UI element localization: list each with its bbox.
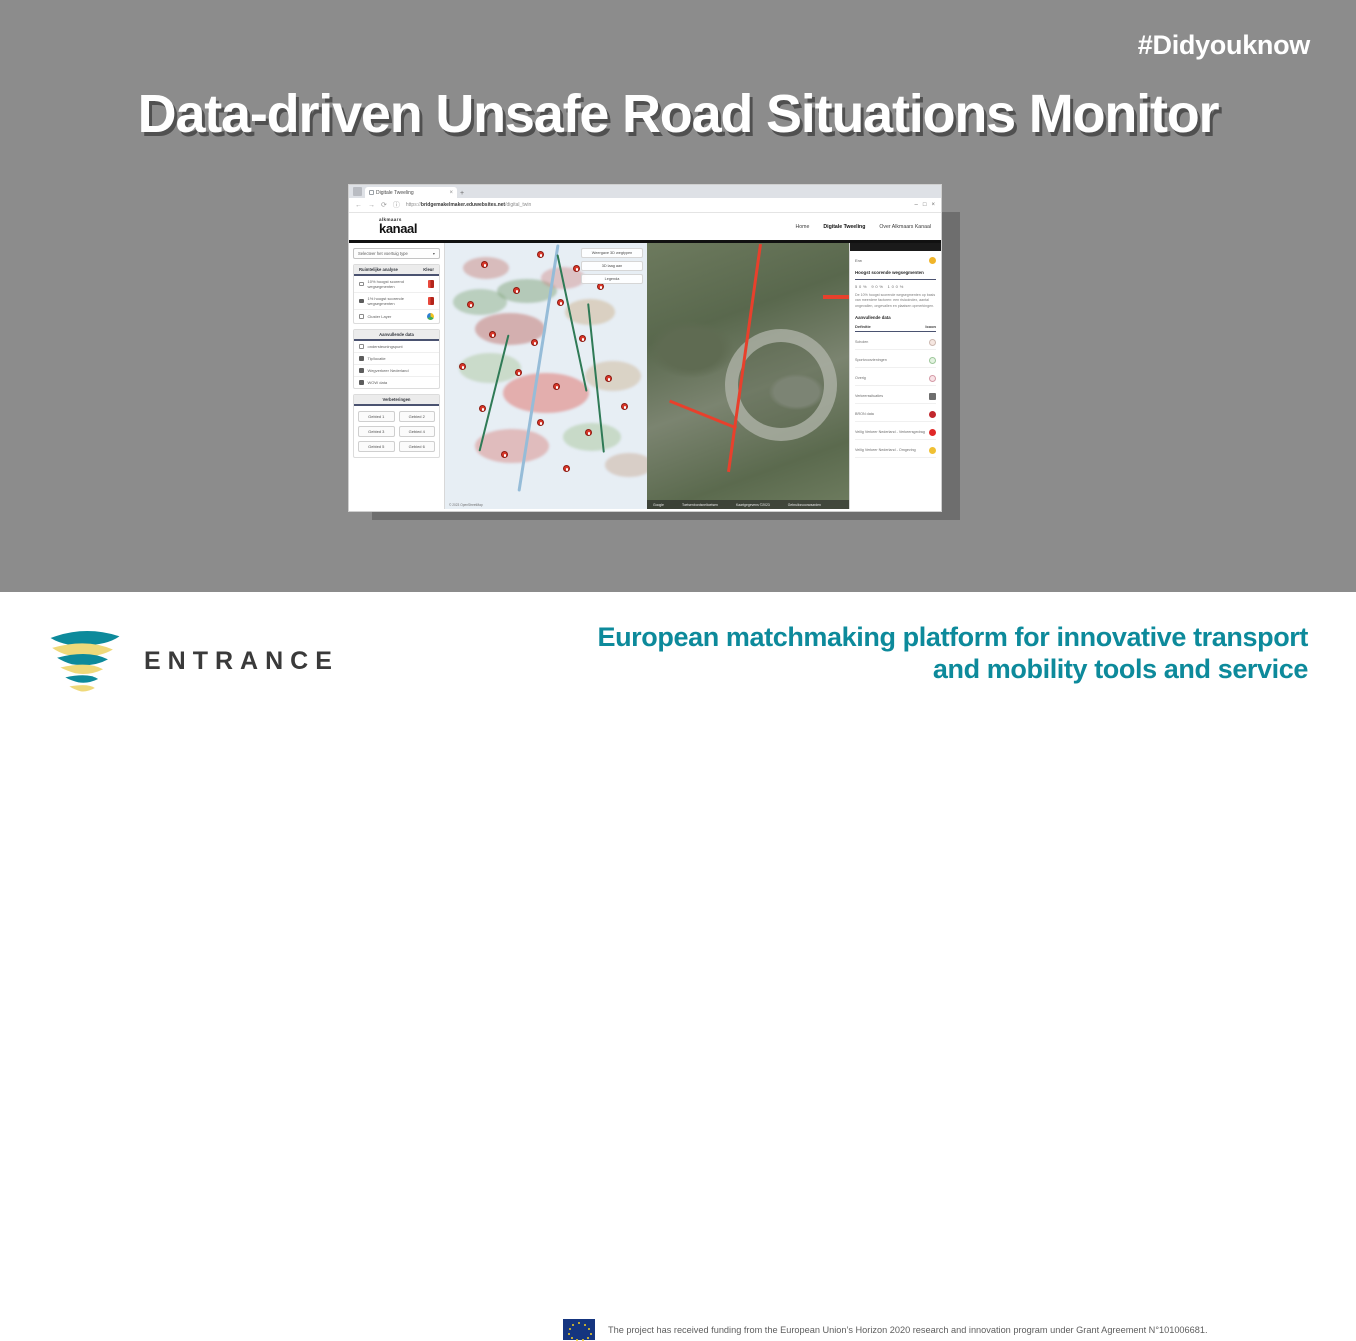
legend-row: Veilig Verkeer Nederland - Omgeving [855, 444, 936, 458]
extra-data-label: WOW data [368, 380, 435, 385]
legend-dot-icon [929, 429, 936, 436]
improvements-header: Verbeteringen [354, 395, 439, 406]
incident-marker[interactable] [585, 429, 592, 436]
eu-funding-row: The project has received funding from th… [562, 1318, 1208, 1341]
right-table-header: Definitie Icoon [855, 324, 936, 332]
hashtag-label: #Didyouknow [1138, 30, 1310, 61]
legend-top-row: Erw [855, 255, 936, 266]
reload-icon[interactable]: ⟳ [381, 201, 387, 209]
legend-row: Veilig Verkeer Nederland - Verkeersgedra… [855, 426, 936, 440]
extra-data-checkbox[interactable] [359, 380, 364, 385]
entrance-wordmark: ENTRANCE [144, 647, 339, 676]
vehicle-type-value: Selecteer het voertuig type [358, 251, 408, 256]
favicon-icon [369, 190, 374, 195]
extra-data-label: Aanvullende data [379, 332, 414, 337]
improvements-button-grid: Gebied 1 Gebied 2 Gebied 3 Gebied 4 Gebi… [354, 406, 439, 457]
window-controls: – □ × [915, 202, 935, 208]
entrance-spiral-icon [44, 620, 126, 702]
close-tab-icon[interactable]: × [449, 190, 453, 196]
google-attribution-bar: Google Toetsenbordsneltoetsen Kaartgegev… [647, 500, 849, 509]
layer-row[interactable]: 1% hoogst scorende wegsegmenten [354, 293, 439, 310]
legend-label: Veilig Verkeer Nederland - Omgeving [855, 448, 916, 453]
legend-label: Sportvoorzieningen [855, 358, 887, 363]
color-swatch [427, 313, 434, 320]
legend-row: Verkeerssituaties [855, 390, 936, 404]
incident-marker[interactable] [479, 405, 486, 412]
close-window-icon[interactable]: × [931, 202, 935, 208]
area-button-3[interactable]: Gebied 3 [358, 426, 395, 437]
window-menu-icon[interactable] [353, 187, 362, 196]
improvements-label: Verbeteringen [383, 397, 411, 402]
map-control-3d-road-types[interactable]: Weergave 3D wegtypen [581, 248, 643, 258]
extra-data-checkbox[interactable] [359, 368, 364, 373]
highway-overlay [823, 295, 849, 299]
area-button-6[interactable]: Gebied 6 [399, 441, 436, 452]
nav-item-over-alkmaars-kanaal[interactable]: Over Alkmaars Kanaal [879, 224, 931, 230]
area-button-2[interactable]: Gebied 2 [399, 411, 436, 422]
legend-label: Overig [855, 376, 866, 381]
legend-dot-icon [929, 257, 936, 264]
vector-map-pane[interactable]: Weergave 3D wegtypen 3D laag aan Legenda… [445, 243, 647, 509]
legend-square-icon [929, 393, 936, 400]
legend-dot-icon [929, 357, 936, 364]
extra-data-row[interactable]: WOW data [354, 377, 439, 388]
legend-row: Overig [855, 372, 936, 386]
layer-row[interactable]: 10% hoogst scorend wegsegmenten [354, 276, 439, 293]
legend-dot-icon [929, 447, 936, 454]
extra-data-row[interactable]: Wegverkeer Nederland [354, 365, 439, 377]
eu-flag-icon [562, 1318, 596, 1341]
legend-row: BRON data [855, 408, 936, 422]
incident-marker[interactable] [537, 419, 544, 426]
incident-marker[interactable] [553, 383, 560, 390]
embedded-screenshot: Digitale Tweeling × + ← → ⟳ ⓘ https://br… [348, 184, 942, 512]
legend-label: Veilig Verkeer Nederland - Verkeersgedra… [855, 430, 925, 435]
incident-marker[interactable] [605, 375, 612, 382]
improvements-card: Verbeteringen Gebied 1 Gebied 2 Gebied 3… [353, 394, 440, 458]
heat-blob [605, 453, 647, 477]
incident-marker[interactable] [531, 339, 538, 346]
score-scale-labels: 50% 90% 100% [855, 284, 936, 289]
spatial-analysis-card: Ruimtelijke analyse Kleur 10% hoogst sco… [353, 264, 440, 324]
incident-marker[interactable] [557, 299, 564, 306]
tagline-line-1: European matchmaking platform for innova… [378, 622, 1308, 654]
back-icon[interactable]: ← [355, 202, 362, 209]
extra-data-label: ondersteuningspunt [368, 344, 435, 349]
extra-data-header: Aanvullende data [354, 330, 439, 341]
layer-label: 1% hoogst scorende wegsegmenten [368, 296, 425, 306]
heat-blob [475, 429, 549, 463]
maximize-icon[interactable]: □ [923, 202, 927, 208]
heat-blob [503, 373, 589, 413]
site-navigation: Home Digitale Tweeling Over Alkmaars Kan… [796, 224, 931, 230]
layer-label: 10% hoogst scorend wegsegmenten [368, 279, 425, 289]
right-panel-title: Hoogst scorende wegsegmenten [855, 270, 936, 280]
map-container[interactable]: Weergave 3D wegtypen 3D laag aan Legenda… [445, 243, 849, 509]
area-button-1[interactable]: Gebied 1 [358, 411, 395, 422]
incident-marker[interactable] [563, 465, 570, 472]
layer-row[interactable]: Cluster Layer [354, 310, 439, 323]
map-control-legend[interactable]: Legenda [581, 274, 643, 284]
terms-link[interactable]: Gebruiksvoorwaarden [788, 503, 821, 507]
right-sidebar: Erw Hoogst scorende wegsegmenten 50% 90%… [849, 243, 941, 509]
browser-tab-strip: Digitale Tweeling × + [349, 185, 941, 198]
footer-tagline: European matchmaking platform for innova… [378, 622, 1308, 686]
column-definition: Definitie [855, 324, 871, 329]
analysis-header-label: Ruimtelijke analyse [359, 267, 398, 272]
nav-item-home[interactable]: Home [796, 224, 810, 230]
left-sidebar: Selecteer het voertuig type ▾ Ruimtelijk… [349, 243, 445, 509]
browser-url-bar: ← → ⟳ ⓘ https://bridgemakelmaker.eduwebs… [349, 198, 941, 213]
incident-marker[interactable] [621, 403, 628, 410]
minimize-icon[interactable]: – [915, 202, 918, 208]
legend-row: Sportvoorzieningen [855, 354, 936, 368]
chevron-down-icon: ▾ [433, 251, 435, 256]
incident-marker[interactable] [501, 451, 508, 458]
legend-row: Scholen [855, 336, 936, 350]
legend-dot-icon [929, 411, 936, 418]
incident-marker[interactable] [467, 301, 474, 308]
incident-marker[interactable] [481, 261, 488, 268]
url-prefix: https:// [406, 202, 421, 208]
incident-marker[interactable] [515, 369, 522, 376]
legend-dot-icon [929, 375, 936, 382]
area-button-5[interactable]: Gebied 5 [358, 441, 395, 452]
forward-icon[interactable]: → [368, 202, 375, 209]
right-extra-data-header: Aanvullende data [855, 315, 936, 320]
extra-data-checkbox[interactable] [359, 356, 364, 361]
heat-blob [563, 423, 621, 451]
incident-marker[interactable] [597, 283, 604, 290]
legend-dot-icon [929, 339, 936, 346]
incident-marker[interactable] [579, 335, 586, 342]
map-control-3d-layer-on[interactable]: 3D laag aan [581, 261, 643, 271]
legend-top-label: Erw [855, 258, 862, 263]
footer: ENTRANCE European matchmaking platform f… [0, 592, 1356, 763]
layer-checkbox[interactable] [359, 299, 364, 304]
column-icon: Icoon [925, 324, 936, 329]
map-controls: Weergave 3D wegtypen 3D laag aan Legenda [581, 248, 643, 284]
entrance-logo: ENTRANCE [44, 620, 339, 702]
google-logo: Google [653, 503, 664, 507]
vehicle-type-select[interactable]: Selecteer het voertuig type ▾ [353, 248, 440, 259]
extra-data-row[interactable]: ondersteuningspunt [354, 341, 439, 353]
extra-data-card: Aanvullende data ondersteuningspunt Tip/… [353, 329, 440, 389]
new-tab-icon[interactable]: + [460, 190, 464, 197]
analysis-color-label: Kleur [423, 267, 434, 272]
osm-attribution: © 2023 OpenStreetMap [449, 503, 483, 507]
extra-data-label: Tip/locatie [368, 356, 435, 361]
keyboard-shortcuts-link[interactable]: Toetsenbordsneltoetsen [682, 503, 718, 507]
incident-marker[interactable] [489, 331, 496, 338]
incident-marker[interactable] [459, 363, 466, 370]
brand-main-text: kanaal [379, 222, 417, 235]
url-domain: bridgemakelmaker.eduwebsites.net [421, 202, 505, 208]
url-path: /digital_twin [505, 202, 531, 208]
area-button-4[interactable]: Gebied 4 [399, 426, 436, 437]
extra-data-row[interactable]: Tip/locatie [354, 353, 439, 365]
site-logo[interactable]: alkmaars kanaal [379, 218, 417, 236]
incident-marker[interactable] [537, 251, 544, 258]
layer-label: Cluster Layer [368, 314, 424, 319]
incident-marker[interactable] [573, 265, 580, 272]
lock-icon: ⓘ [393, 200, 400, 210]
incident-marker[interactable] [513, 287, 520, 294]
heat-blob [463, 257, 509, 279]
heat-blob [459, 353, 521, 383]
right-panel-description: De 10% hoogst scorende wegsegmenten op b… [855, 293, 936, 310]
highway-overlay [669, 400, 737, 430]
extra-data-checkbox[interactable] [359, 344, 364, 349]
nav-item-digitale-tweeling[interactable]: Digitale Tweeling [823, 224, 865, 230]
tab-title: Digitale Tweeling [376, 190, 414, 196]
panel-top-divider [850, 243, 941, 251]
address-input[interactable]: https://bridgemakelmaker.eduwebsites.net… [406, 202, 909, 208]
browser-tab[interactable]: Digitale Tweeling × [365, 187, 457, 198]
site-header: alkmaars kanaal Home Digitale Tweeling O… [349, 213, 941, 243]
app-body: Selecteer het voertuig type ▾ Ruimtelijk… [349, 243, 941, 509]
extra-data-label: Wegverkeer Nederland [368, 368, 435, 373]
layer-checkbox[interactable] [359, 282, 364, 287]
legend-label: Scholen [855, 340, 868, 345]
color-swatch [428, 297, 434, 305]
satellite-map-pane[interactable]: Google Toetsenbordsneltoetsen Kaartgegev… [647, 243, 849, 509]
color-swatch [428, 280, 434, 288]
spatial-analysis-header: Ruimtelijke analyse Kleur [354, 265, 439, 276]
page-title: Data-driven Unsafe Road Situations Monit… [0, 83, 1356, 145]
layer-checkbox[interactable] [359, 314, 364, 319]
map-data-label: Kaartgegevens ©2023 [736, 503, 770, 507]
legend-label: Verkeerssituaties [855, 394, 883, 399]
eu-funding-text: The project has received funding from th… [608, 1325, 1208, 1335]
tagline-line-2: and mobility tools and service [378, 654, 1308, 686]
legend-label: BRON data [855, 412, 874, 417]
